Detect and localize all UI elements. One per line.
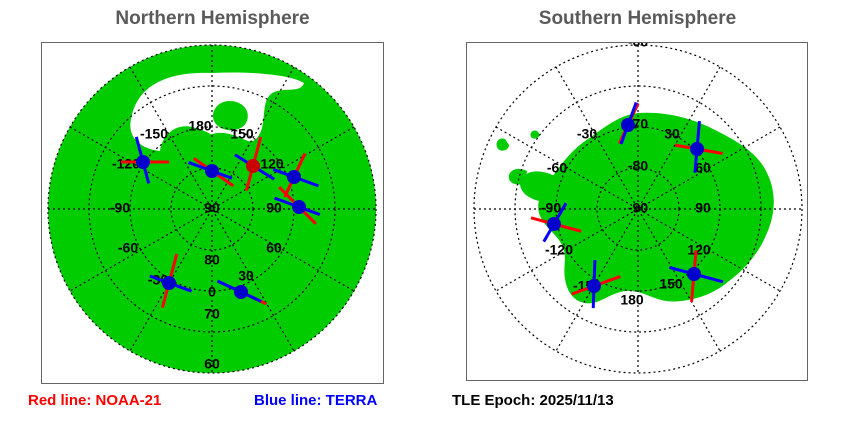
svg-text:0: 0 [208, 284, 216, 300]
svg-text:90: 90 [204, 200, 220, 216]
legend-terra: Blue line: TERRA [254, 392, 377, 409]
marker-s-minus150 [587, 279, 601, 293]
svg-text:-90: -90 [541, 200, 561, 216]
polar-satellite-tracks-figure: Northern Hemisphere [0, 0, 850, 425]
southern-plot-frame: -90 -80 -70 -60 30 60 90 120 150 180 -15… [466, 42, 808, 381]
marker-s-minus120 [547, 217, 561, 231]
marker-s-150 [687, 267, 701, 281]
legend-noaa21: Red line: NOAA-21 [28, 392, 161, 409]
marker-180 [205, 164, 219, 178]
svg-text:120: 120 [687, 242, 711, 258]
figure-legend: Red line: NOAA-21 Blue line: TERRA TLE E… [0, 392, 850, 420]
southern-hemisphere-panel: Southern Hemisphere [425, 0, 850, 392]
svg-text:90: 90 [266, 200, 282, 216]
marker-150 [246, 159, 260, 173]
marker-90e [292, 200, 306, 214]
marker-s-60 [690, 142, 704, 156]
northern-plot-frame: 90 80 70 60 0 30 60 90 120 150 180 -150 … [41, 42, 384, 384]
svg-text:-120: -120 [112, 156, 140, 172]
legend-tle-epoch: TLE Epoch: 2025/11/13 [452, 392, 614, 409]
svg-text:180: 180 [188, 118, 212, 134]
svg-text:-60: -60 [547, 160, 567, 176]
svg-text:-60: -60 [628, 43, 648, 50]
svg-text:80: 80 [204, 252, 220, 268]
svg-text:150: 150 [659, 276, 683, 292]
marker-0 [234, 285, 248, 299]
svg-text:-90: -90 [110, 200, 130, 216]
marker-minus30 [162, 276, 176, 290]
northern-polar-map: 90 80 70 60 0 30 60 90 120 150 180 -150 … [42, 43, 380, 380]
marker-120n [136, 155, 150, 169]
svg-text:-90: -90 [628, 200, 648, 216]
svg-text:90: 90 [695, 200, 711, 216]
svg-text:30: 30 [664, 126, 680, 142]
svg-text:180: 180 [620, 292, 644, 308]
svg-text:150: 150 [230, 126, 254, 142]
svg-text:60: 60 [266, 240, 282, 256]
svg-text:-120: -120 [545, 242, 573, 258]
svg-text:-80: -80 [628, 158, 648, 174]
marker-120e [287, 170, 301, 184]
southern-hemisphere-title: Southern Hemisphere [425, 8, 850, 30]
svg-text:60: 60 [204, 356, 220, 372]
svg-text:30: 30 [238, 268, 254, 284]
svg-text:60: 60 [695, 160, 711, 176]
svg-text:120: 120 [260, 156, 284, 172]
northern-hemisphere-panel: Northern Hemisphere [0, 0, 425, 392]
svg-text:70: 70 [204, 306, 220, 322]
svg-text:-150: -150 [140, 126, 168, 142]
northern-hemisphere-title: Northern Hemisphere [0, 8, 425, 30]
southern-polar-map: -90 -80 -70 -60 30 60 90 120 150 180 -15… [467, 43, 804, 377]
svg-text:-60: -60 [118, 240, 138, 256]
svg-text:-30: -30 [577, 126, 597, 142]
marker-s-minus80 [621, 118, 635, 132]
